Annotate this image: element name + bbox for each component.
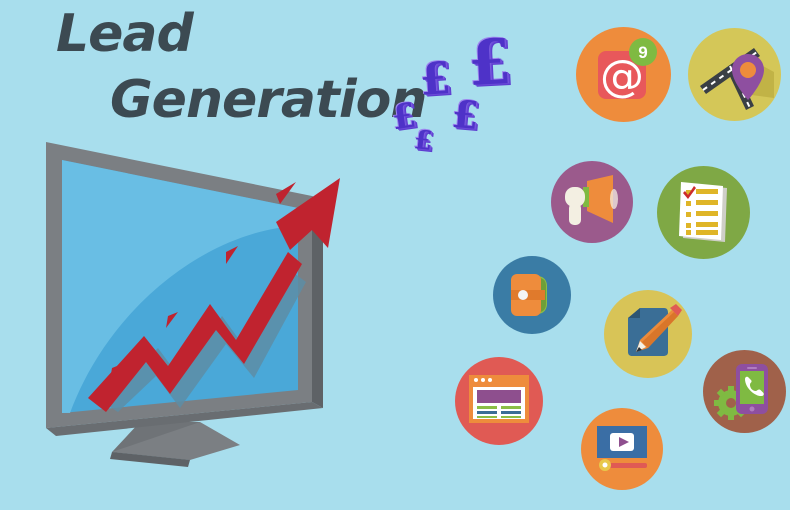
- browser-line-6: [501, 416, 521, 418]
- video-progress-knob-center: [603, 463, 608, 468]
- browser-dot-1: [474, 378, 478, 382]
- page-title-line-2: Generation: [110, 74, 400, 126]
- video-player-icon[interactable]: [581, 408, 663, 490]
- pound-symbol-4: £: [450, 95, 480, 135]
- megaphone-handle: [569, 203, 581, 225]
- pound-symbol-2: £: [413, 127, 434, 155]
- checklist-box-3: [686, 212, 691, 217]
- pound-symbol-5: £: [466, 31, 512, 95]
- browser-line-3: [477, 411, 497, 414]
- browser-banner: [477, 390, 521, 403]
- pound-symbol-3: £: [419, 57, 453, 103]
- checklist-line-2: [696, 200, 718, 205]
- mobile-phone-gear-icon[interactable]: [703, 350, 786, 433]
- monitor-svg: [40, 130, 400, 480]
- pound-symbol-1: £: [390, 99, 418, 136]
- map-location-pin-icon[interactable]: [688, 28, 781, 121]
- browser-line-2: [501, 406, 521, 409]
- checklist-line-3: [696, 211, 718, 216]
- checklist-box-4: [686, 223, 691, 228]
- lead-generation-graphic: Lead Generation: [0, 0, 790, 510]
- page-title: Lead Generation: [0, 8, 400, 126]
- checklist-line-5: [696, 230, 718, 235]
- browser-dot-2: [481, 378, 485, 382]
- browser-line-5: [477, 416, 497, 418]
- browser-dot-3: [488, 378, 492, 382]
- wallet-clasp: [518, 290, 528, 300]
- checklist-box-5: [686, 230, 691, 235]
- page-title-line-1: Lead: [56, 8, 400, 60]
- browser-line-1: [477, 406, 497, 409]
- document-pencil-edit-icon[interactable]: [604, 290, 692, 378]
- email-badge-count: 9: [638, 43, 647, 62]
- form-document-fold: [628, 308, 640, 318]
- phone-speaker: [747, 367, 757, 369]
- wallet-icon[interactable]: [493, 256, 571, 334]
- checklist-line-4: [696, 222, 718, 227]
- phone-screen: [740, 371, 764, 404]
- map-pin-center: [740, 62, 756, 78]
- megaphone-sound: [610, 189, 618, 209]
- email-at-icon[interactable]: @ 9: [576, 27, 671, 122]
- landing-page-browser-icon[interactable]: [455, 357, 543, 445]
- checklist-document-icon[interactable]: [657, 166, 750, 259]
- megaphone-icon[interactable]: [551, 161, 633, 243]
- phone-home-button: [750, 407, 755, 412]
- checklist-box-2: [686, 201, 691, 206]
- browser-line-4: [501, 411, 521, 414]
- computer-monitor-illustration: [40, 130, 380, 470]
- checklist-line-1: [696, 189, 718, 194]
- megaphone-cone: [587, 175, 613, 223]
